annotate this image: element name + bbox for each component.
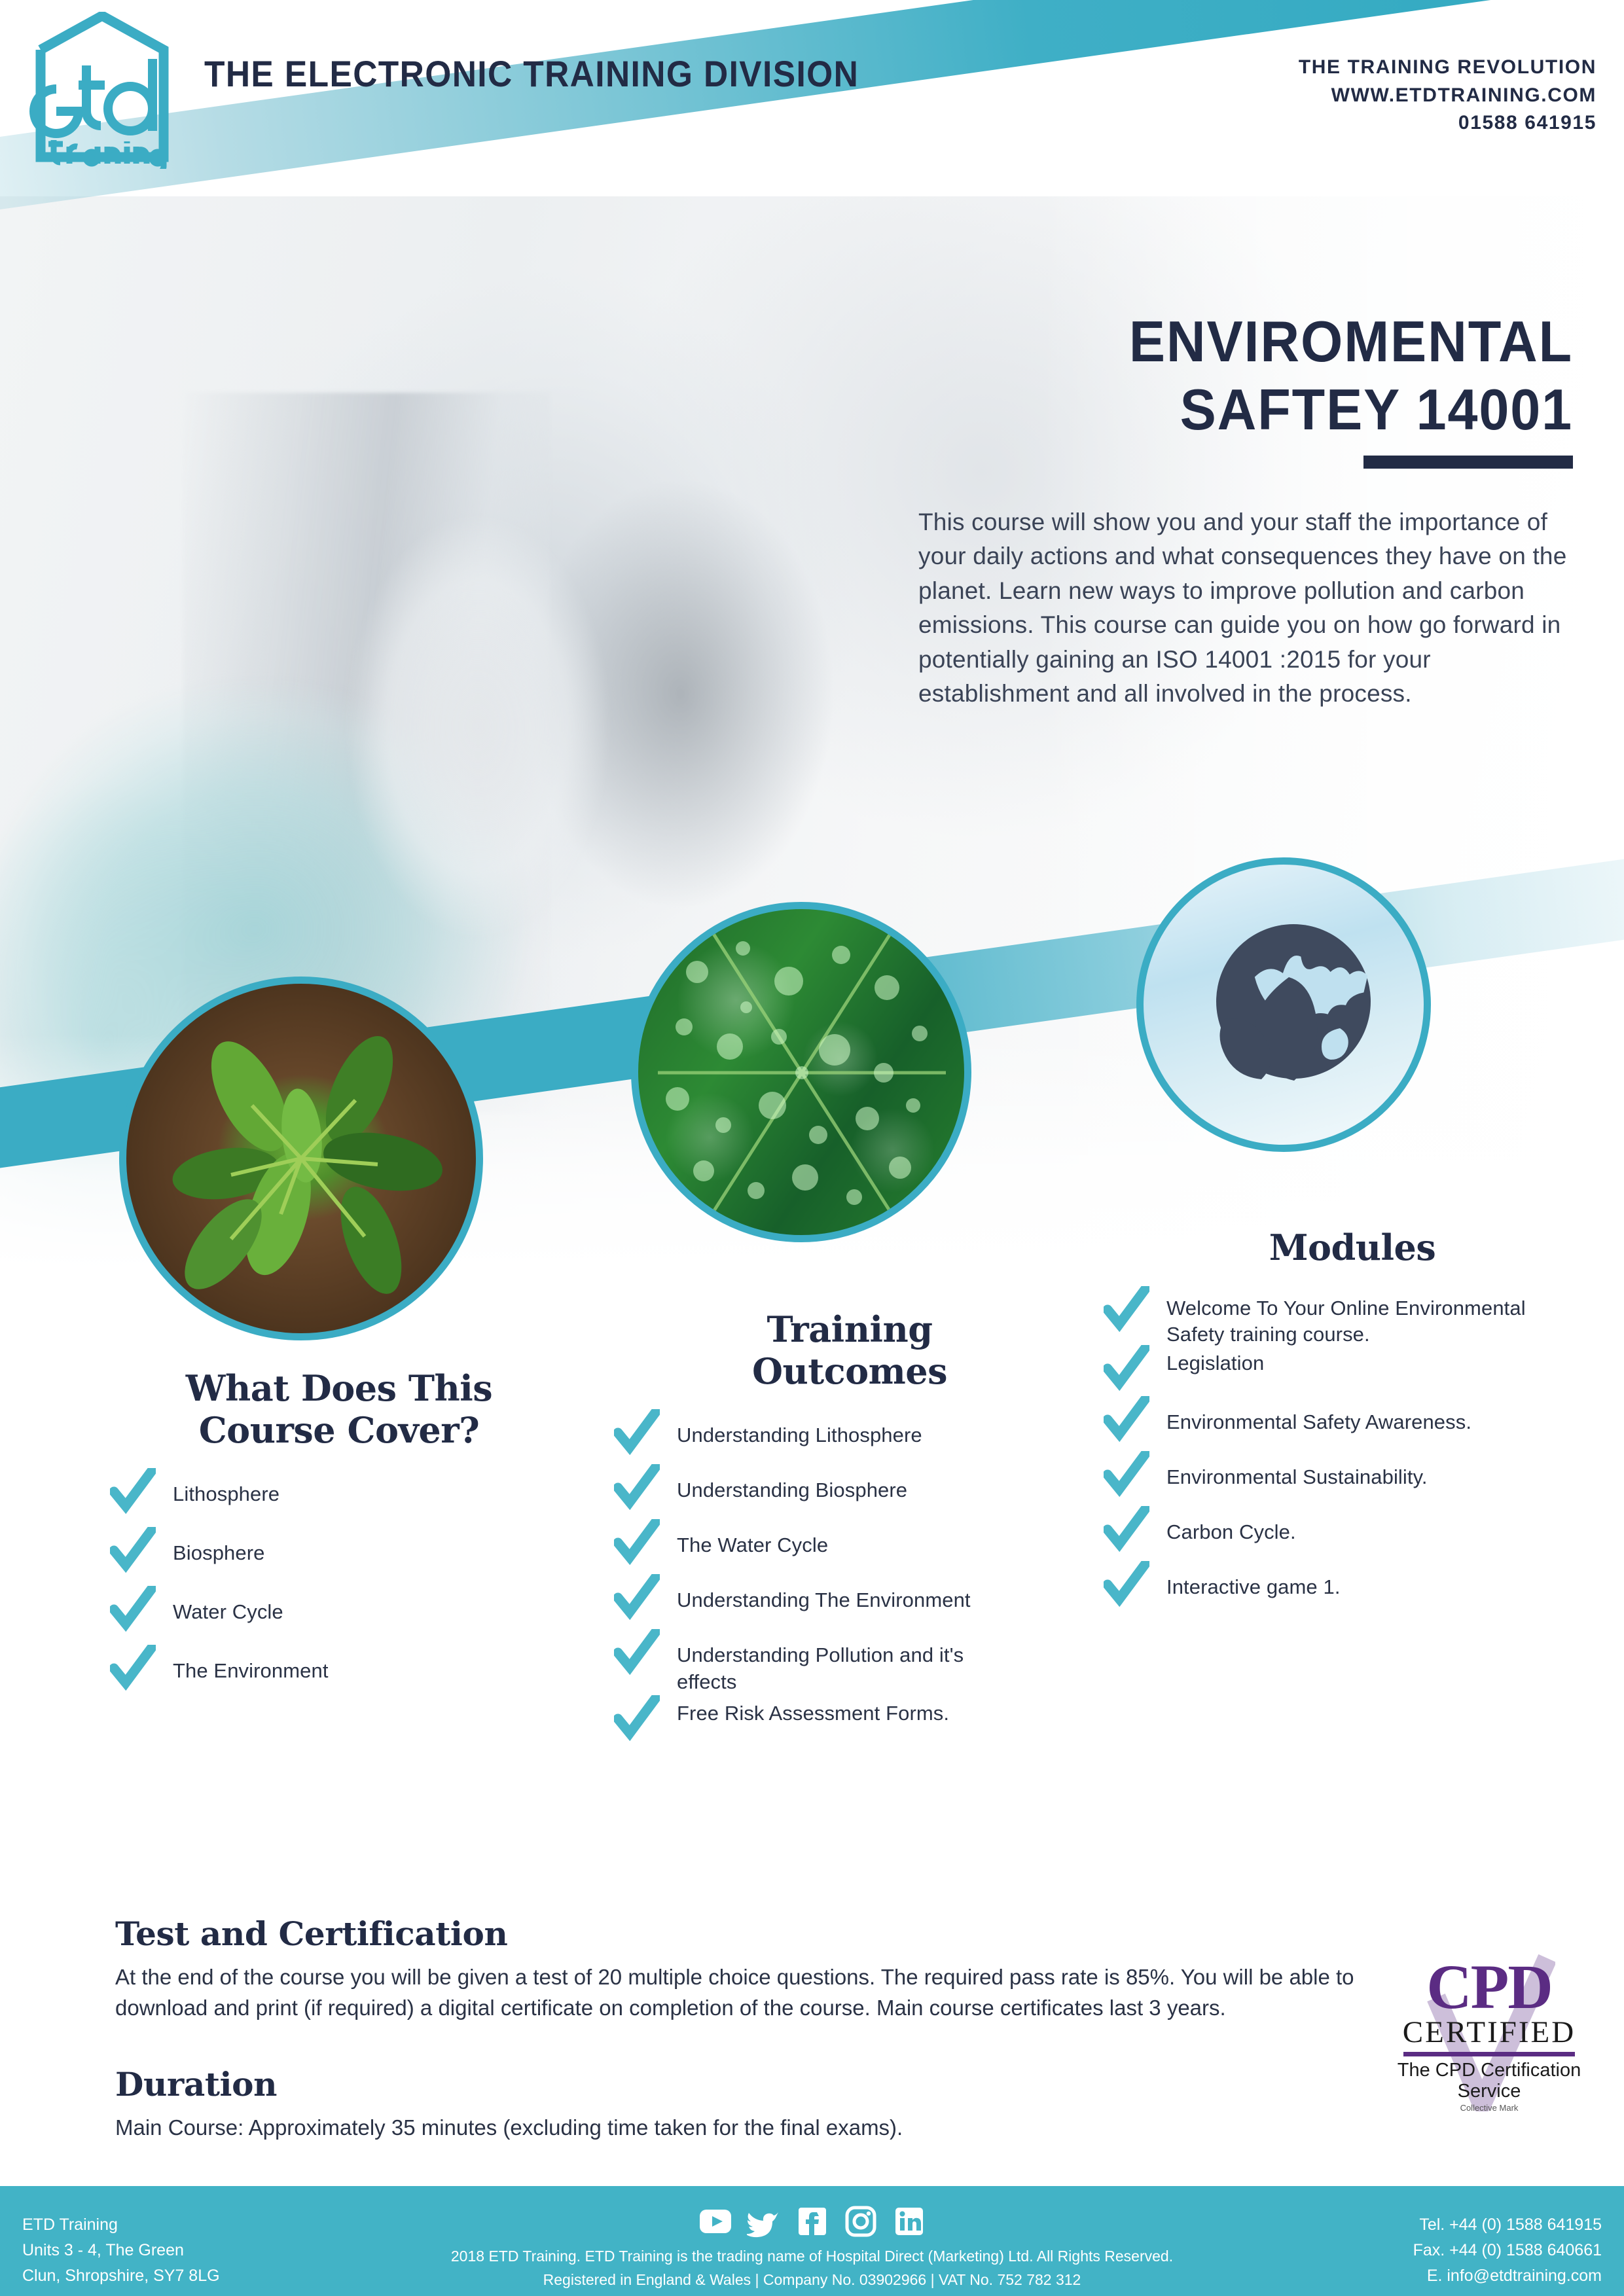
checkmark-icon <box>1104 1401 1149 1439</box>
duration-body: Main Course: Approximately 35 minutes (e… <box>115 2113 1359 2144</box>
facebook-icon[interactable] <box>795 2204 829 2238</box>
youtube-icon[interactable] <box>698 2204 732 2238</box>
etd-training-logo[interactable] <box>24 12 181 169</box>
header-website[interactable]: WWW.ETDTRAINING.COM <box>1299 82 1597 110</box>
checkmark-icon <box>614 1700 660 1738</box>
list-item-label: Free Risk Assessment Forms. <box>677 1700 949 1727</box>
footer-address: ETD Training Units 3 - 4, The Green Clun… <box>22 2212 220 2288</box>
course-title-line1: ENVIROMENTAL <box>958 308 1573 376</box>
list-item: The Water Cycle <box>614 1524 1085 1562</box>
list-item-label: The Water Cycle <box>677 1524 828 1558</box>
list-item: Understanding The Environment <box>614 1579 1085 1617</box>
list-item-label: Understanding Pollution and it's effects <box>677 1634 965 1695</box>
footer-social-links <box>321 2204 1303 2238</box>
list-item-label: Welcome To Your Online Environmental Saf… <box>1166 1291 1559 1348</box>
cpd-service-line2: Service <box>1394 2081 1584 2102</box>
cpd-service-line1: The CPD Certification <box>1394 2060 1584 2081</box>
water-droplets-illustration <box>638 909 964 1235</box>
footer-contact: Tel. +44 (0) 1588 641915 Fax. +44 (0) 15… <box>1413 2212 1602 2288</box>
list-item-label: Understanding The Environment <box>677 1579 971 1613</box>
list-item: Understanding Biosphere <box>614 1469 1085 1507</box>
cover-heading-line1: What Does This <box>110 1368 568 1410</box>
linkedin-icon[interactable] <box>892 2204 926 2238</box>
footer-legal-line2: Registered in England & Wales | Company … <box>321 2269 1303 2292</box>
instagram-icon[interactable] <box>844 2204 878 2238</box>
circle-image-plant <box>119 977 483 1340</box>
checkmark-icon <box>110 1532 156 1570</box>
list-item: Environmental Safety Awareness. <box>1104 1401 1601 1439</box>
etd-house-logo-icon <box>24 12 181 169</box>
footer-center-block: 2018 ETD Training. ETD Training is the t… <box>321 2204 1303 2291</box>
footer-address-line3: Clun, Shropshire, SY7 8LG <box>22 2263 220 2289</box>
test-heading: Test and Certification <box>115 1914 1359 1953</box>
test-body: At the end of the course you will be giv… <box>115 1962 1359 2024</box>
list-item-label: Carbon Cycle. <box>1166 1511 1296 1545</box>
plant-leaves-illustration <box>126 984 476 1333</box>
checkmark-icon <box>110 1650 156 1688</box>
list-item: Understanding Pollution and it's effects <box>614 1634 1085 1695</box>
test-and-certification-section: Test and Certification At the end of the… <box>115 1914 1359 2024</box>
course-description: This course will show you and your staff… <box>918 505 1573 711</box>
column-course-cover: What Does This Course Cover? Lithosphere… <box>110 1368 568 1709</box>
footer-fax: Fax. +44 (0) 1588 640661 <box>1413 2238 1602 2263</box>
column-training-outcomes: Training Outcomes Understanding Lithosph… <box>614 1309 1085 1755</box>
checkmark-icon <box>1104 1456 1149 1494</box>
list-item: Biosphere <box>110 1532 568 1570</box>
twitter-icon[interactable] <box>747 2204 781 2238</box>
duration-heading: Duration <box>115 2065 1359 2104</box>
list-item-label: Biosphere <box>173 1532 265 1566</box>
cover-heading: What Does This Course Cover? <box>110 1368 568 1451</box>
footer-address-line2: Units 3 - 4, The Green <box>22 2238 220 2263</box>
footer-tel[interactable]: Tel. +44 (0) 1588 641915 <box>1413 2212 1602 2238</box>
checkmark-icon <box>110 1473 156 1511</box>
list-item: Free Risk Assessment Forms. <box>614 1700 1085 1738</box>
checkmark-icon <box>614 1524 660 1562</box>
globe-with-leaves-icon <box>1185 906 1382 1103</box>
cpd-letters: CPD <box>1394 1957 1584 2017</box>
list-item: Interactive game 1. <box>1104 1566 1601 1604</box>
checkmark-icon <box>110 1591 156 1629</box>
outcomes-heading: Training Outcomes <box>614 1309 1085 1392</box>
cpd-certified-text: CERTIFIED <box>1394 2017 1584 2049</box>
checkmark-icon <box>1104 1291 1149 1329</box>
checkmark-icon <box>614 1634 660 1672</box>
list-item-label: Lithosphere <box>173 1473 280 1507</box>
hero-thumbsup-arm-shape <box>308 478 648 975</box>
page-footer: ETD Training Units 3 - 4, The Green Clun… <box>0 2186 1624 2296</box>
list-item-label: Understanding Biosphere <box>677 1469 907 1503</box>
list-item: Understanding Lithosphere <box>614 1414 1085 1452</box>
footer-email[interactable]: E. info@etdtraining.com <box>1413 2263 1602 2289</box>
list-item: Legislation <box>1104 1350 1601 1388</box>
footer-legal: 2018 ETD Training. ETD Training is the t… <box>321 2245 1303 2291</box>
course-title-line2: SAFTEY 14001 <box>958 376 1573 444</box>
cpd-certified-badge: CPD CERTIFIED The CPD Certification Serv… <box>1394 1957 1584 2113</box>
modules-list: Welcome To Your Online Environmental Saf… <box>1104 1291 1601 1605</box>
list-item-label: Legislation <box>1166 1350 1264 1376</box>
title-underline <box>1363 456 1573 469</box>
checkmark-icon <box>1104 1566 1149 1604</box>
circle-icon-globe <box>1136 857 1431 1152</box>
modules-heading: Modules <box>1104 1227 1601 1269</box>
header-contact-block: THE TRAINING REVOLUTION WWW.ETDTRAINING.… <box>1299 54 1597 137</box>
cover-heading-line2: Course Cover? <box>110 1410 568 1452</box>
footer-address-line1: ETD Training <box>22 2212 220 2238</box>
header-tagline: THE TRAINING REVOLUTION <box>1299 54 1597 82</box>
checkmark-icon <box>614 1414 660 1452</box>
outcomes-heading-line1: Training <box>614 1309 1085 1351</box>
circle-image-wet-leaf <box>631 902 971 1242</box>
list-item-label: Environmental Safety Awareness. <box>1166 1401 1471 1435</box>
page-header: THE ELECTRONIC TRAINING DIVISION THE TRA… <box>0 0 1624 196</box>
list-item: Water Cycle <box>110 1591 568 1629</box>
outcomes-list: Understanding Lithosphere Understanding … <box>614 1414 1085 1738</box>
list-item: Lithosphere <box>110 1473 568 1511</box>
list-item: Carbon Cycle. <box>1104 1511 1601 1549</box>
header-phone[interactable]: 01588 641915 <box>1299 109 1597 137</box>
column-modules: Modules Welcome To Your Online Environme… <box>1104 1227 1601 1617</box>
modules-heading-line1: Modules <box>1104 1227 1601 1269</box>
list-item-label: Understanding Lithosphere <box>677 1414 922 1448</box>
footer-legal-line1: 2018 ETD Training. ETD Training is the t… <box>321 2245 1303 2269</box>
checkmark-icon <box>614 1579 660 1617</box>
list-item-label: The Environment <box>173 1650 329 1684</box>
list-item: Welcome To Your Online Environmental Saf… <box>1104 1291 1601 1348</box>
cover-list: Lithosphere Biosphere Water Cycle The En… <box>110 1473 568 1688</box>
checkmark-icon <box>1104 1511 1149 1549</box>
list-item-label: Interactive game 1. <box>1166 1566 1341 1600</box>
checkmark-icon <box>614 1469 660 1507</box>
duration-section: Duration Main Course: Approximately 35 m… <box>115 2065 1359 2144</box>
list-item-label: Water Cycle <box>173 1591 283 1625</box>
cpd-divider <box>1403 2052 1575 2056</box>
cpd-collective-mark: Collective Mark <box>1394 2103 1584 2113</box>
outcomes-heading-line2: Outcomes <box>614 1351 1085 1393</box>
checkmark-icon <box>1104 1350 1149 1388</box>
list-item: The Environment <box>110 1650 568 1688</box>
brand-title: THE ELECTRONIC TRAINING DIVISION <box>204 52 859 95</box>
list-item: Environmental Sustainability. <box>1104 1456 1601 1494</box>
list-item-label: Environmental Sustainability. <box>1166 1456 1428 1490</box>
hero-text-block: ENVIROMENTAL SAFTEY 14001 This course wi… <box>918 308 1573 711</box>
